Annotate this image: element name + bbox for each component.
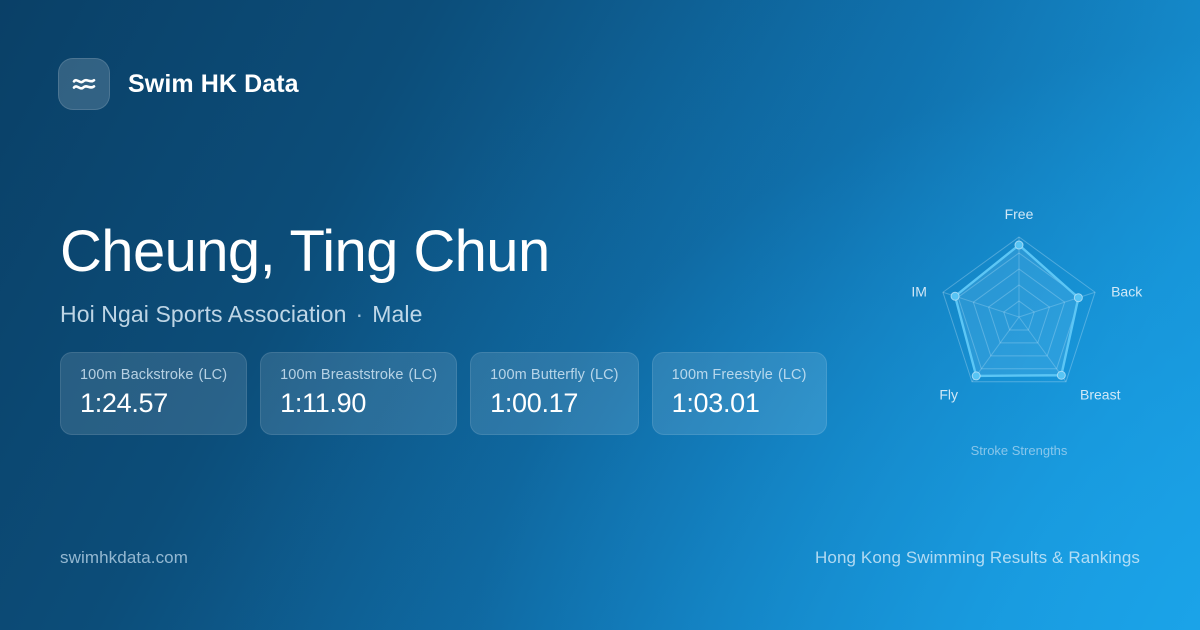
stat-card-event: 100m Breaststroke bbox=[280, 367, 403, 383]
brand-name: Swim HK Data bbox=[128, 70, 299, 99]
stat-card-course: (LC) bbox=[778, 367, 807, 383]
stroke-strengths-radar-chart: FreeBackBreastFlyIM Stroke Strengths bbox=[869, 170, 1171, 470]
radar-axis-label-back: Back bbox=[1111, 283, 1143, 299]
footer-tagline: Hong Kong Swimming Results & Rankings bbox=[815, 548, 1140, 568]
athlete-gender: Male bbox=[372, 301, 422, 327]
brand-lockup[interactable]: Swim HK Data bbox=[58, 58, 299, 110]
stat-card-course: (LC) bbox=[590, 367, 619, 383]
stat-card-event: 100m Butterfly bbox=[490, 367, 585, 383]
radar-axis-label-free: Free bbox=[1005, 206, 1034, 222]
stat-card-list: 100m Backstroke(LC) 1:24.57 100m Breasts… bbox=[60, 352, 827, 435]
stat-card-label: 100m Butterfly(LC) bbox=[490, 367, 618, 383]
athlete-meta: Hoi Ngai Sports Association·Male bbox=[60, 301, 820, 328]
radar-data-point-im[interactable] bbox=[951, 292, 959, 300]
stat-card-label: 100m Breaststroke(LC) bbox=[280, 367, 437, 383]
stat-card-time: 1:00.17 bbox=[490, 388, 618, 419]
stat-card-time: 1:03.01 bbox=[672, 388, 807, 419]
radar-data-point-breast[interactable] bbox=[1057, 371, 1065, 379]
stat-card-butterfly[interactable]: 100m Butterfly(LC) 1:00.17 bbox=[470, 352, 638, 435]
page-title: Cheung, Ting Chun bbox=[60, 222, 820, 283]
stat-card-backstroke[interactable]: 100m Backstroke(LC) 1:24.57 bbox=[60, 352, 247, 435]
stat-card-event: 100m Backstroke bbox=[80, 367, 194, 383]
poster-canvas: Swim HK Data Cheung, Ting Chun Hoi Ngai … bbox=[0, 0, 1200, 630]
stat-card-course: (LC) bbox=[199, 367, 228, 383]
radar-axis-label-fly: Fly bbox=[939, 387, 958, 403]
stat-card-freestyle[interactable]: 100m Freestyle(LC) 1:03.01 bbox=[652, 352, 827, 435]
radar-data-point-free[interactable] bbox=[1015, 241, 1023, 249]
stat-card-time: 1:11.90 bbox=[280, 388, 437, 419]
radar-series-area bbox=[955, 245, 1078, 376]
waves-icon bbox=[58, 58, 110, 110]
footer-site-url[interactable]: swimhkdata.com bbox=[60, 548, 188, 568]
stat-card-course: (LC) bbox=[409, 367, 438, 383]
stat-card-breaststroke[interactable]: 100m Breaststroke(LC) 1:11.90 bbox=[260, 352, 457, 435]
radar-data-point-back[interactable] bbox=[1074, 294, 1082, 302]
radar-axis-label-im: IM bbox=[911, 283, 927, 299]
stat-card-time: 1:24.57 bbox=[80, 388, 227, 419]
radar-axis-label-breast: Breast bbox=[1080, 387, 1121, 403]
stat-card-event: 100m Freestyle bbox=[672, 367, 773, 383]
radar-caption: Stroke Strengths bbox=[971, 443, 1068, 458]
meta-separator: · bbox=[347, 301, 373, 328]
headline-block: Cheung, Ting Chun Hoi Ngai Sports Associ… bbox=[60, 222, 820, 328]
stat-card-label: 100m Freestyle(LC) bbox=[672, 367, 807, 383]
radar-data-point-fly[interactable] bbox=[972, 372, 980, 380]
athlete-club: Hoi Ngai Sports Association bbox=[60, 301, 347, 327]
stat-card-label: 100m Backstroke(LC) bbox=[80, 367, 227, 383]
